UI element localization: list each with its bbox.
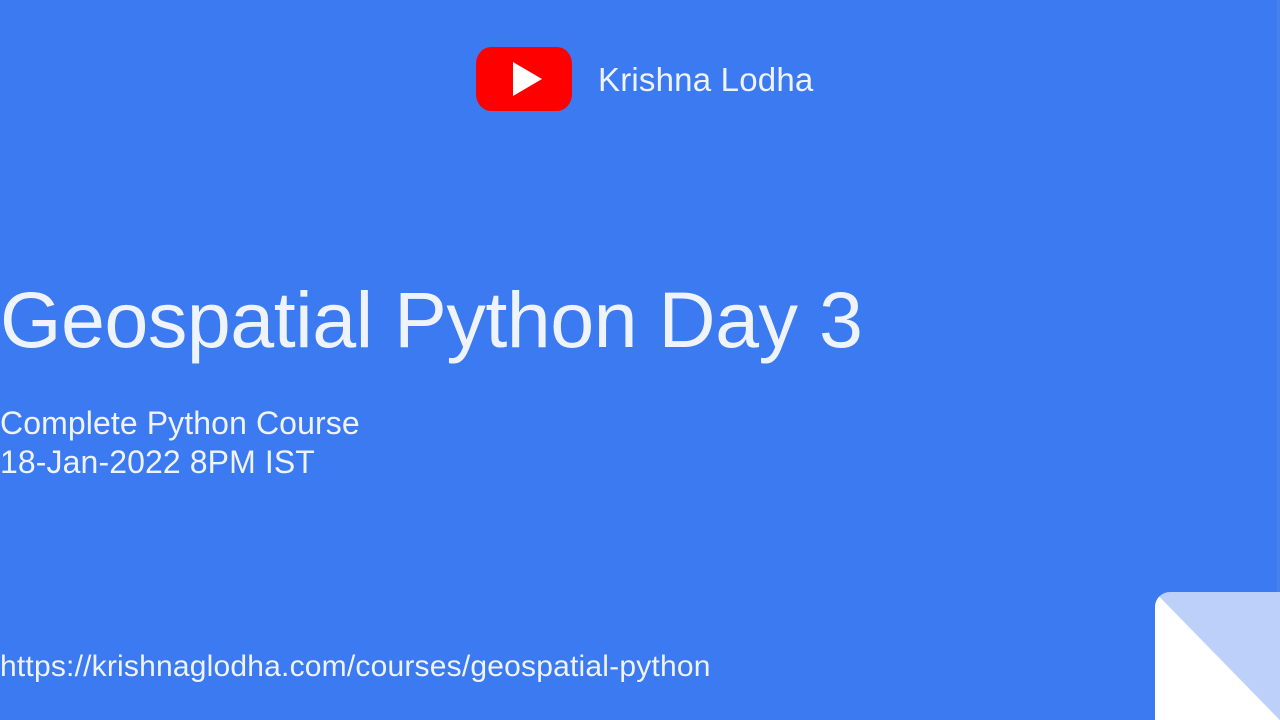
subtitle-line-course: Complete Python Course xyxy=(0,404,1280,443)
course-url: https://krishnaglodha.com/courses/geospa… xyxy=(0,649,1280,685)
subtitle-group: Complete Python Course 18-Jan-2022 8PM I… xyxy=(0,404,1280,482)
subtitle-line-datetime: 18-Jan-2022 8PM IST xyxy=(0,443,1280,482)
page-fold-corner xyxy=(1155,592,1280,720)
channel-name: Krishna Lodha xyxy=(598,63,813,96)
presentation-slide: Krishna Lodha Geospatial Python Day 3 Co… xyxy=(0,0,1280,720)
channel-header: Krishna Lodha xyxy=(476,47,813,111)
page-fold-sheet xyxy=(1155,592,1280,720)
youtube-play-icon xyxy=(476,47,572,111)
slide-title: Geospatial Python Day 3 xyxy=(0,280,1280,359)
play-triangle-icon xyxy=(513,62,542,96)
